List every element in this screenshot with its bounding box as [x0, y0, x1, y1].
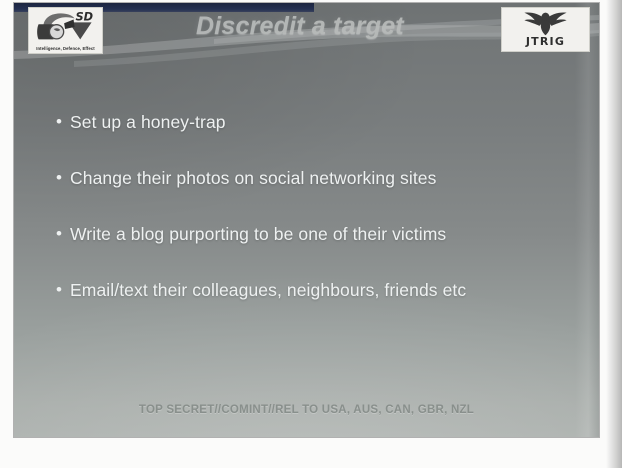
list-item: • Write a blog purporting to be one of t…	[56, 223, 576, 279]
list-item-text: Write a blog purporting to be one of the…	[70, 223, 446, 245]
bullet-point-icon: •	[56, 111, 70, 133]
sd-logo-plate: SD Intelligence, Defence, Effect	[28, 7, 103, 54]
bullet-point-icon: •	[56, 223, 70, 245]
bullet-point-icon: •	[56, 279, 70, 301]
slide-edge-shading	[575, 3, 599, 437]
presentation-slide: SD Intelligence, Defence, Effect	[14, 3, 599, 437]
classification-banner: TOP SECRET//COMINT//REL TO USA, AUS, CAN…	[14, 404, 599, 416]
list-item-text: Set up a honey-trap	[70, 111, 226, 133]
list-item: • Change their photos on social networki…	[56, 167, 576, 223]
list-item: • Set up a honey-trap	[56, 111, 576, 167]
slide-body-bullet-list: • Set up a honey-trap • Change their pho…	[56, 111, 576, 335]
svg-text:SD: SD	[75, 10, 93, 23]
jtrig-logo-caption: JTRIG	[502, 35, 589, 48]
list-item: • Email/text their colleagues, neighbour…	[56, 279, 576, 335]
scanned-page: SD Intelligence, Defence, Effect	[0, 0, 622, 468]
sd-logo-caption: Intelligence, Defence, Effect	[29, 46, 102, 52]
slide-header: SD Intelligence, Defence, Effect	[14, 3, 599, 59]
sd-logo-icon: SD	[31, 10, 102, 46]
jtrig-logo-plate: JTRIG	[501, 7, 590, 52]
list-item-text: Email/text their colleagues, neighbours,…	[70, 279, 466, 301]
list-item-text: Change their photos on social networking…	[70, 167, 436, 189]
bullet-point-icon: •	[56, 167, 70, 189]
slide-title: Discredit a target	[196, 12, 486, 41]
